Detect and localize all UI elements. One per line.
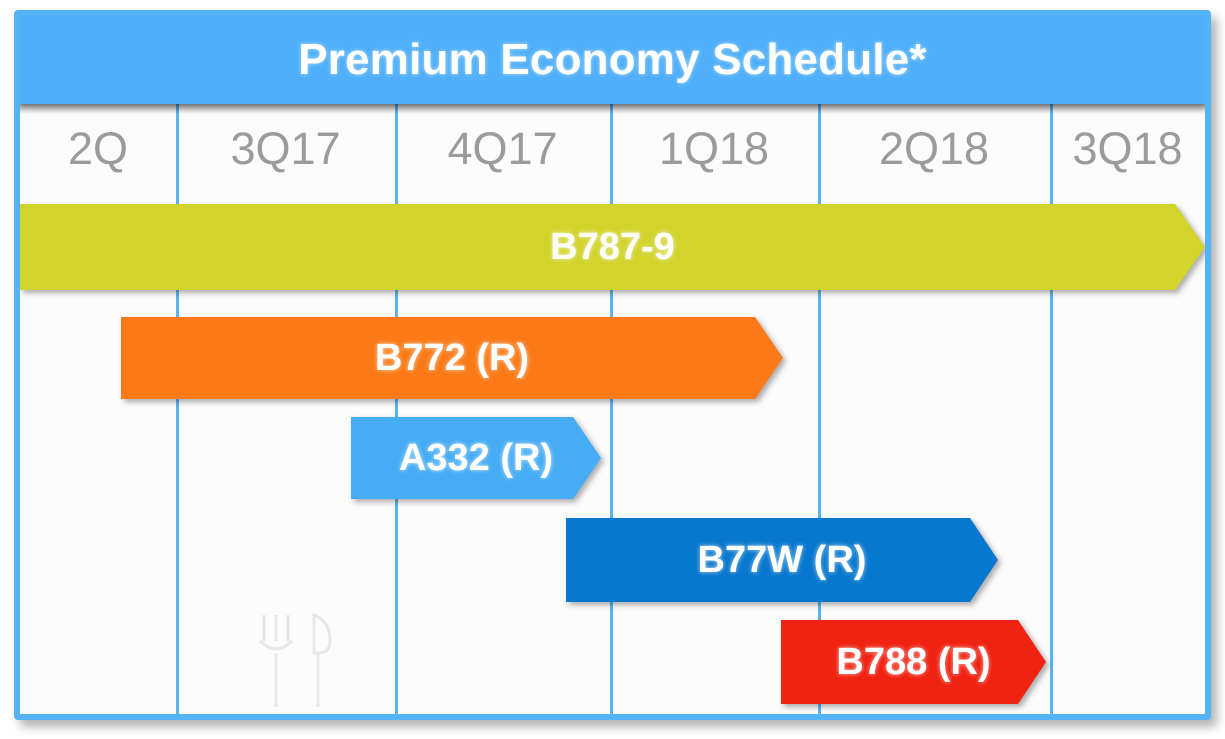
gantt-bar-label-a332: A332 (R) <box>399 437 553 480</box>
gantt-bar-label-b77w: B77W (R) <box>698 539 867 582</box>
page-title: Premium Economy Schedule* <box>298 35 927 85</box>
schedule-chart-frame: Premium Economy Schedule* 2Q 3Q17 4Q17 1… <box>14 10 1211 720</box>
gantt-bar-label-b787-9: B787-9 <box>550 226 675 269</box>
chart-title-bar: Premium Economy Schedule* <box>20 16 1205 104</box>
gantt-bar-b788[interactable]: B788 (R) <box>781 620 1046 704</box>
gantt-bar-label-b788: B788 (R) <box>836 641 990 684</box>
gantt-bar-b787-9[interactable]: B787-9 <box>20 204 1205 290</box>
gantt-bar-label-b772: B772 (R) <box>375 337 529 380</box>
gantt-bars-layer: B787-9 B772 (R) A332 (R) <box>20 104 1205 714</box>
chart-plot-area: 2Q 3Q17 4Q17 1Q18 2Q18 3Q18 B787-9 B772 … <box>20 104 1205 714</box>
gantt-bar-b772[interactable]: B772 (R) <box>121 317 783 399</box>
gantt-bar-a332[interactable]: A332 (R) <box>351 417 601 499</box>
gantt-bar-b77w[interactable]: B77W (R) <box>566 518 998 602</box>
